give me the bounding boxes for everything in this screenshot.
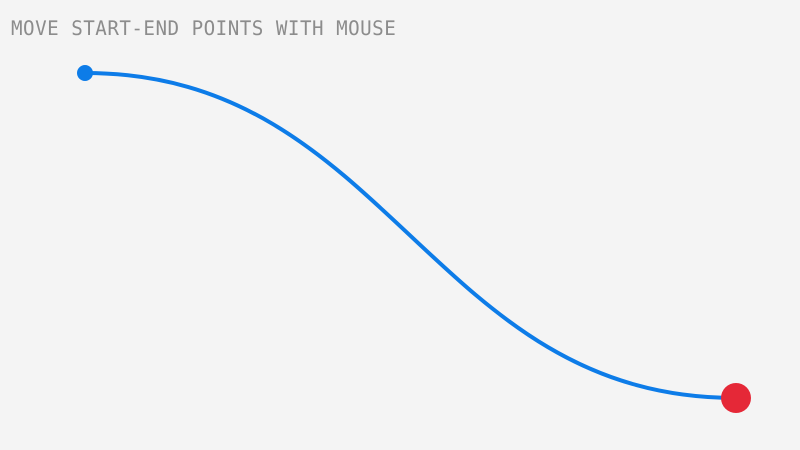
start-point-handle[interactable] [77,65,93,81]
curve-canvas[interactable] [0,0,800,450]
end-point-handle[interactable] [721,383,751,413]
bezier-curve-path [85,73,736,398]
canvas-app-root: MOVE START-END POINTS WITH MOUSE [0,0,800,450]
